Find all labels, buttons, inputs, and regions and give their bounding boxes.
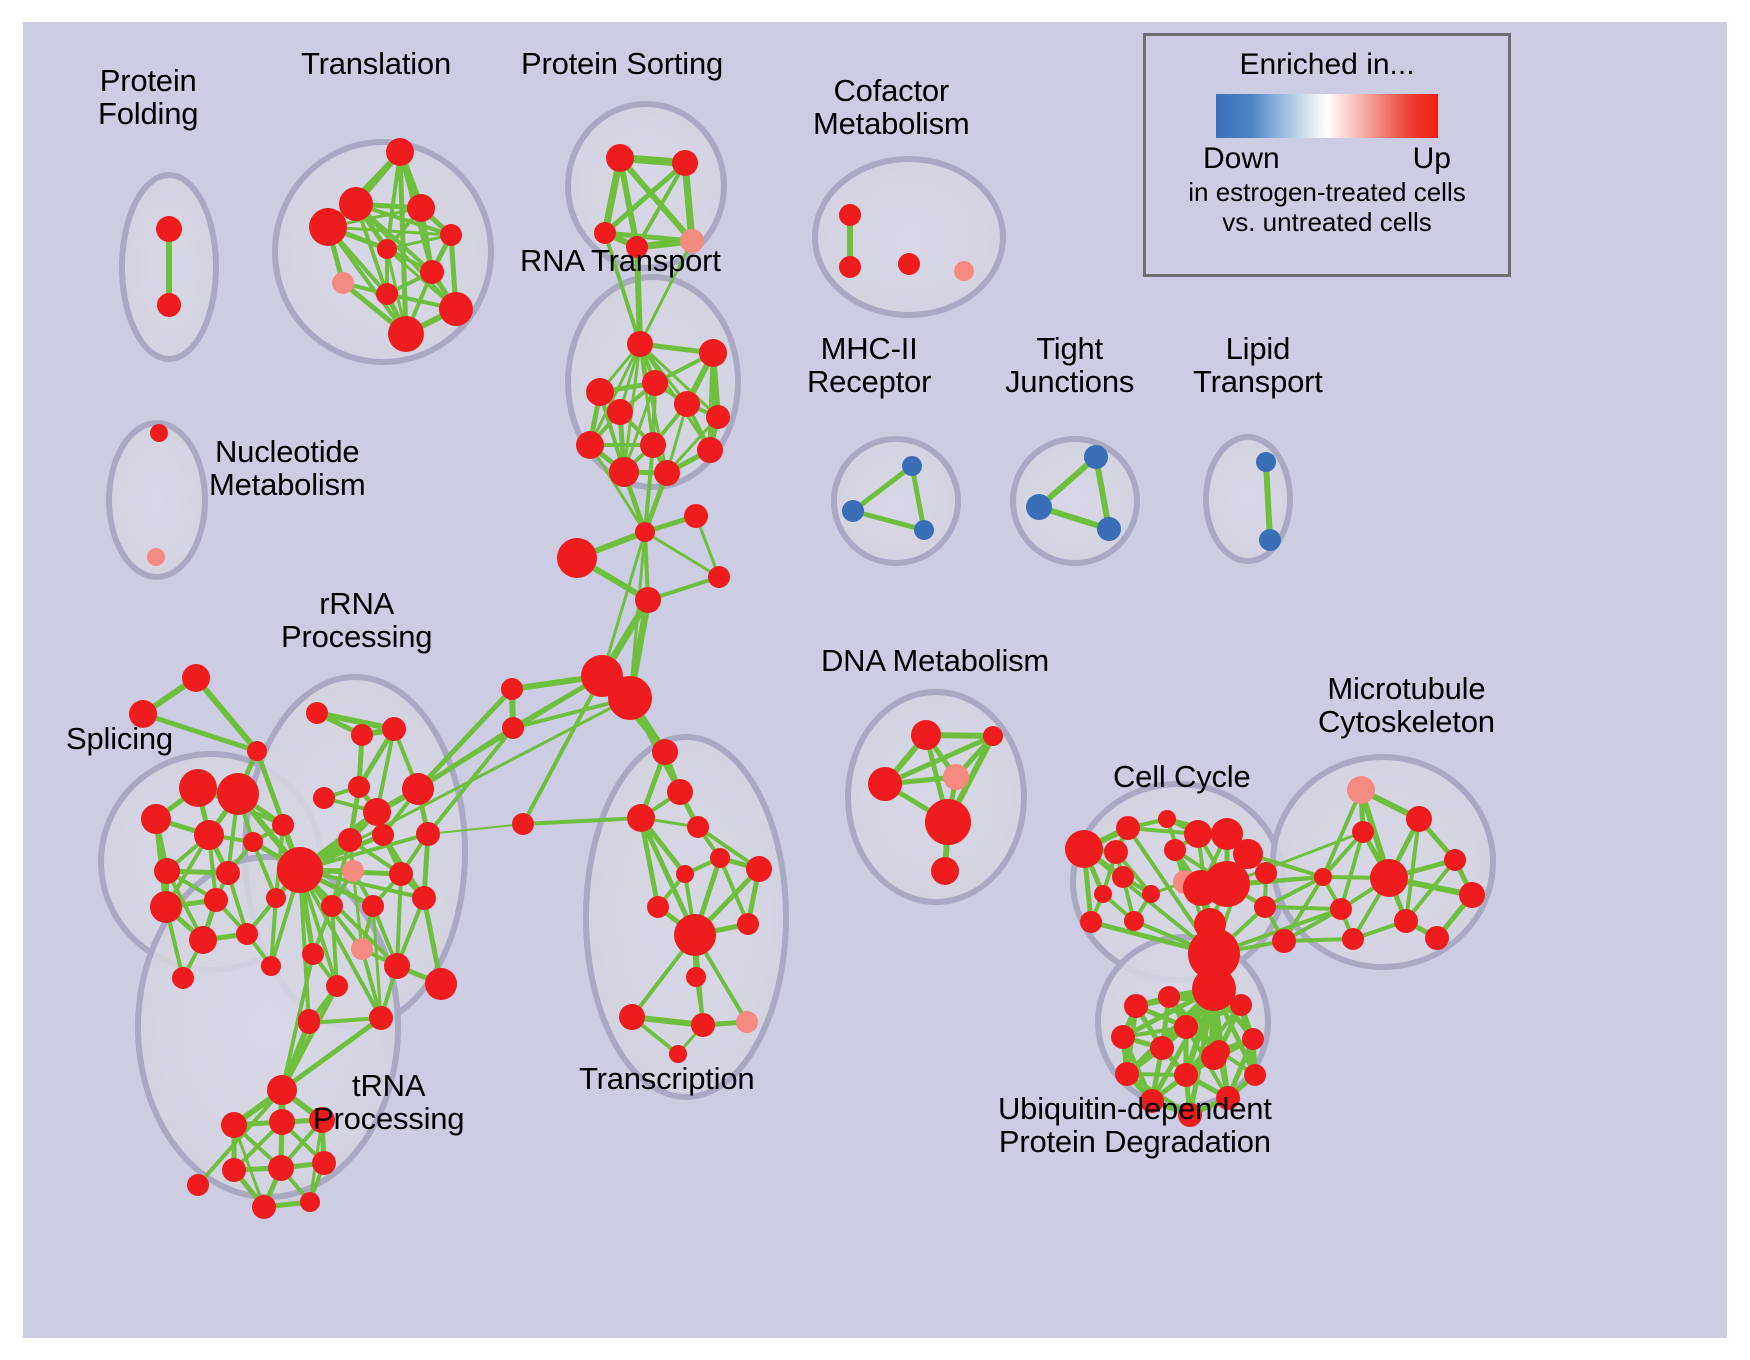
network-node[interactable] — [182, 664, 210, 692]
cluster-label-translation: Translation — [301, 47, 451, 80]
network-node[interactable] — [302, 943, 324, 965]
network-node[interactable] — [640, 432, 666, 458]
network-node[interactable] — [1272, 929, 1296, 953]
network-node[interactable] — [672, 150, 698, 176]
network-node[interactable] — [557, 538, 597, 578]
network-node[interactable] — [402, 773, 434, 805]
network-node[interactable] — [1192, 967, 1236, 1011]
network-edge[interactable] — [1266, 462, 1270, 540]
network-node[interactable] — [1330, 898, 1352, 920]
network-node[interactable] — [1115, 1062, 1139, 1086]
network-node[interactable] — [1370, 859, 1408, 897]
network-node[interactable] — [686, 967, 706, 987]
legend-up-label: Up — [1413, 142, 1451, 176]
cluster-label-splicing: Splicing — [66, 722, 173, 755]
cluster-label-transcription: Transcription — [579, 1062, 754, 1095]
legend-subtitle-line2: vs. untreated cells — [1188, 208, 1465, 238]
network-node[interactable] — [1184, 820, 1212, 848]
network-node[interactable] — [222, 1158, 246, 1182]
network-node[interactable] — [606, 144, 634, 172]
network-node[interactable] — [217, 773, 259, 815]
network-node[interactable] — [156, 216, 182, 242]
network-node[interactable] — [1112, 866, 1134, 888]
network-node[interactable] — [737, 913, 759, 935]
cluster-label-cofactor-metabolism: CofactorMetabolism — [813, 74, 970, 140]
network-node[interactable] — [1142, 885, 1160, 903]
network-node[interactable] — [1164, 839, 1186, 861]
network-node[interactable] — [594, 222, 616, 244]
network-node[interactable] — [269, 1109, 295, 1135]
network-node[interactable] — [911, 720, 941, 750]
network-node[interactable] — [1174, 1015, 1198, 1039]
network-node[interactable] — [674, 391, 700, 417]
network-node[interactable] — [388, 316, 424, 352]
network-node[interactable] — [1352, 821, 1374, 843]
network-node[interactable] — [1124, 911, 1144, 931]
cluster-label-cell-cycle: Cell Cycle — [1113, 760, 1251, 793]
network-node[interactable] — [147, 548, 165, 566]
network-node[interactable] — [339, 187, 373, 221]
network-node[interactable] — [1065, 830, 1103, 868]
network-node[interactable] — [642, 370, 668, 396]
network-node[interactable] — [342, 860, 364, 882]
network-node[interactable] — [440, 224, 462, 246]
network-node[interactable] — [338, 828, 362, 852]
network-node[interactable] — [204, 888, 228, 912]
network-node[interactable] — [1026, 494, 1052, 520]
network-node[interactable] — [243, 832, 263, 852]
network-node[interactable] — [1459, 882, 1485, 908]
network-node[interactable] — [420, 260, 444, 284]
network-node[interactable] — [268, 1155, 294, 1181]
network-node[interactable] — [1255, 862, 1277, 884]
network-node[interactable] — [1174, 1063, 1198, 1087]
network-edge[interactable] — [645, 532, 719, 577]
network-node[interactable] — [684, 504, 708, 528]
network-node[interactable] — [189, 926, 217, 954]
network-node[interactable] — [706, 405, 730, 429]
network-node[interactable] — [586, 378, 614, 406]
cluster-label-trna-processing: tRNAProcessing — [313, 1069, 464, 1135]
network-node[interactable] — [512, 813, 534, 835]
network-node[interactable] — [746, 856, 772, 882]
network-node[interactable] — [647, 896, 669, 918]
network-node[interactable] — [348, 776, 370, 798]
cluster-label-protein-folding: ProteinFolding — [98, 64, 198, 130]
network-node[interactable] — [1314, 868, 1332, 886]
network-node[interactable] — [407, 194, 435, 222]
network-node[interactable] — [607, 399, 633, 425]
network-node[interactable] — [627, 331, 653, 357]
network-node[interactable] — [914, 520, 934, 540]
network-node[interactable] — [266, 888, 286, 908]
network-node[interactable] — [267, 1075, 297, 1105]
network-node[interactable] — [416, 822, 440, 846]
network-node[interactable] — [1111, 1025, 1135, 1049]
network-node[interactable] — [369, 1006, 393, 1030]
network-node[interactable] — [1254, 896, 1276, 918]
network-node[interactable] — [652, 739, 678, 765]
network-node[interactable] — [312, 1151, 336, 1175]
network-node[interactable] — [389, 862, 413, 886]
figure-stage: ProteinFoldingTranslationProtein Sorting… — [0, 0, 1750, 1360]
cluster-label-mhc-ii-receptor: MHC-IIReceptor — [807, 332, 931, 398]
network-node[interactable] — [609, 457, 639, 487]
legend-panel: Enriched in... Down Up in estrogen-treat… — [1143, 33, 1511, 277]
network-node[interactable] — [868, 767, 902, 801]
network-node[interactable] — [386, 138, 414, 166]
network-node[interactable] — [925, 799, 971, 845]
network-node[interactable] — [172, 967, 194, 989]
network-node[interactable] — [179, 769, 217, 807]
network-node[interactable] — [710, 848, 730, 868]
cluster-label-ubiquitin-degradation: Ubiquitin-dependentProtein Degradation — [998, 1092, 1272, 1158]
cluster-label-tight-junctions: TightJunctions — [1005, 332, 1134, 398]
cluster-label-rna-transport: RNA Transport — [520, 244, 721, 277]
network-node[interactable] — [1347, 776, 1375, 804]
network-node[interactable] — [377, 239, 397, 259]
network-node[interactable] — [501, 678, 523, 700]
network-node[interactable] — [635, 522, 655, 542]
network-node[interactable] — [439, 292, 473, 326]
network-node[interactable] — [898, 253, 920, 275]
legend-down-label: Down — [1203, 142, 1280, 176]
network-node[interactable] — [332, 272, 354, 294]
network-node[interactable] — [1150, 1036, 1174, 1060]
network-node[interactable] — [576, 431, 604, 459]
network-node[interactable] — [141, 804, 171, 834]
network-node[interactable] — [674, 914, 716, 956]
network-node[interactable] — [627, 804, 655, 832]
legend-endpoints: Down Up — [1203, 142, 1451, 176]
network-node[interactable] — [309, 208, 347, 246]
network-node[interactable] — [1425, 926, 1449, 950]
network-node[interactable] — [351, 938, 373, 960]
network-node[interactable] — [150, 891, 182, 923]
network-node[interactable] — [1230, 994, 1252, 1016]
network-node[interactable] — [363, 798, 391, 826]
network-node[interactable] — [157, 293, 181, 317]
network-node[interactable] — [1097, 517, 1121, 541]
network-node[interactable] — [321, 895, 343, 917]
network-node[interactable] — [502, 717, 524, 739]
network-node[interactable] — [247, 741, 267, 761]
legend-color-bar — [1216, 94, 1438, 138]
network-node[interactable] — [306, 702, 328, 724]
network-node[interactable] — [326, 975, 348, 997]
network-node[interactable] — [1158, 986, 1180, 1008]
network-node[interactable] — [372, 824, 394, 846]
legend-subtitle: in estrogen-treated cells vs. untreated … — [1188, 178, 1465, 237]
network-node[interactable] — [1080, 911, 1102, 933]
network-node[interactable] — [1444, 849, 1466, 871]
network-node[interactable] — [635, 587, 661, 613]
cluster-label-microtubule-cytoskeleton: MicrotubuleCytoskeleton — [1318, 672, 1495, 738]
network-node[interactable] — [261, 956, 281, 976]
network-node[interactable] — [298, 1009, 320, 1031]
network-node[interactable] — [697, 437, 723, 463]
network-node[interactable] — [277, 847, 323, 893]
network-node[interactable] — [983, 726, 1003, 746]
network-node[interactable] — [376, 283, 398, 305]
network-canvas: ProteinFoldingTranslationProtein Sorting… — [23, 22, 1727, 1338]
network-node[interactable] — [1342, 928, 1364, 950]
network-node[interactable] — [1406, 806, 1432, 832]
network-node[interactable] — [252, 1195, 276, 1219]
network-node[interactable] — [842, 500, 864, 522]
network-node[interactable] — [699, 339, 727, 367]
network-node[interactable] — [362, 895, 384, 917]
network-node[interactable] — [1116, 816, 1140, 840]
network-node[interactable] — [1104, 840, 1128, 864]
network-node[interactable] — [1124, 994, 1148, 1018]
cluster-label-nucleotide-metabolism: NucleotideMetabolism — [209, 435, 366, 501]
network-node[interactable] — [1394, 909, 1418, 933]
network-node[interactable] — [1256, 452, 1276, 472]
network-node[interactable] — [412, 886, 436, 910]
network-node[interactable] — [1158, 810, 1176, 828]
network-node[interactable] — [1242, 1028, 1264, 1050]
network-node[interactable] — [1084, 445, 1108, 469]
cluster-label-rrna-processing: rRNAProcessing — [281, 587, 432, 653]
network-node[interactable] — [216, 861, 240, 885]
network-node[interactable] — [313, 787, 335, 809]
network-node[interactable] — [667, 779, 693, 805]
network-node[interactable] — [902, 456, 922, 476]
network-node[interactable] — [687, 816, 709, 838]
network-node[interactable] — [619, 1004, 645, 1030]
cluster-label-dna-metabolism: DNA Metabolism — [821, 644, 1049, 677]
network-node[interactable] — [1094, 885, 1112, 903]
network-node[interactable] — [691, 1013, 715, 1037]
network-node[interactable] — [236, 923, 258, 945]
network-node[interactable] — [425, 968, 457, 1000]
network-node[interactable] — [154, 858, 180, 884]
network-node[interactable] — [272, 814, 294, 836]
network-node[interactable] — [931, 857, 959, 885]
network-node[interactable] — [1259, 529, 1281, 551]
legend-subtitle-line1: in estrogen-treated cells — [1188, 178, 1465, 208]
network-node[interactable] — [221, 1112, 247, 1138]
network-node[interactable] — [351, 724, 373, 746]
network-node[interactable] — [736, 1011, 758, 1033]
network-node[interactable] — [1194, 908, 1226, 940]
network-node[interactable] — [839, 256, 861, 278]
network-node[interactable] — [676, 865, 694, 883]
network-node[interactable] — [384, 953, 410, 979]
network-node[interactable] — [382, 717, 406, 741]
network-node[interactable] — [150, 424, 168, 442]
network-node[interactable] — [943, 764, 969, 790]
network-node[interactable] — [954, 261, 974, 281]
network-node[interactable] — [839, 204, 861, 226]
network-node[interactable] — [300, 1192, 320, 1212]
cluster-label-protein-sorting: Protein Sorting — [521, 47, 723, 80]
network-node[interactable] — [708, 566, 730, 588]
network-node[interactable] — [187, 1174, 209, 1196]
network-node[interactable] — [654, 460, 680, 486]
legend-title: Enriched in... — [1239, 48, 1414, 82]
network-node[interactable] — [1183, 870, 1219, 906]
network-node[interactable] — [1208, 1040, 1230, 1062]
network-edge[interactable] — [1265, 907, 1341, 909]
cluster-ellipse-cofactor-metabolism[interactable] — [815, 159, 1003, 315]
network-node[interactable] — [194, 820, 224, 850]
network-node[interactable] — [608, 676, 652, 720]
cluster-label-lipid-transport: LipidTransport — [1193, 332, 1323, 398]
network-node[interactable] — [1244, 1064, 1266, 1086]
